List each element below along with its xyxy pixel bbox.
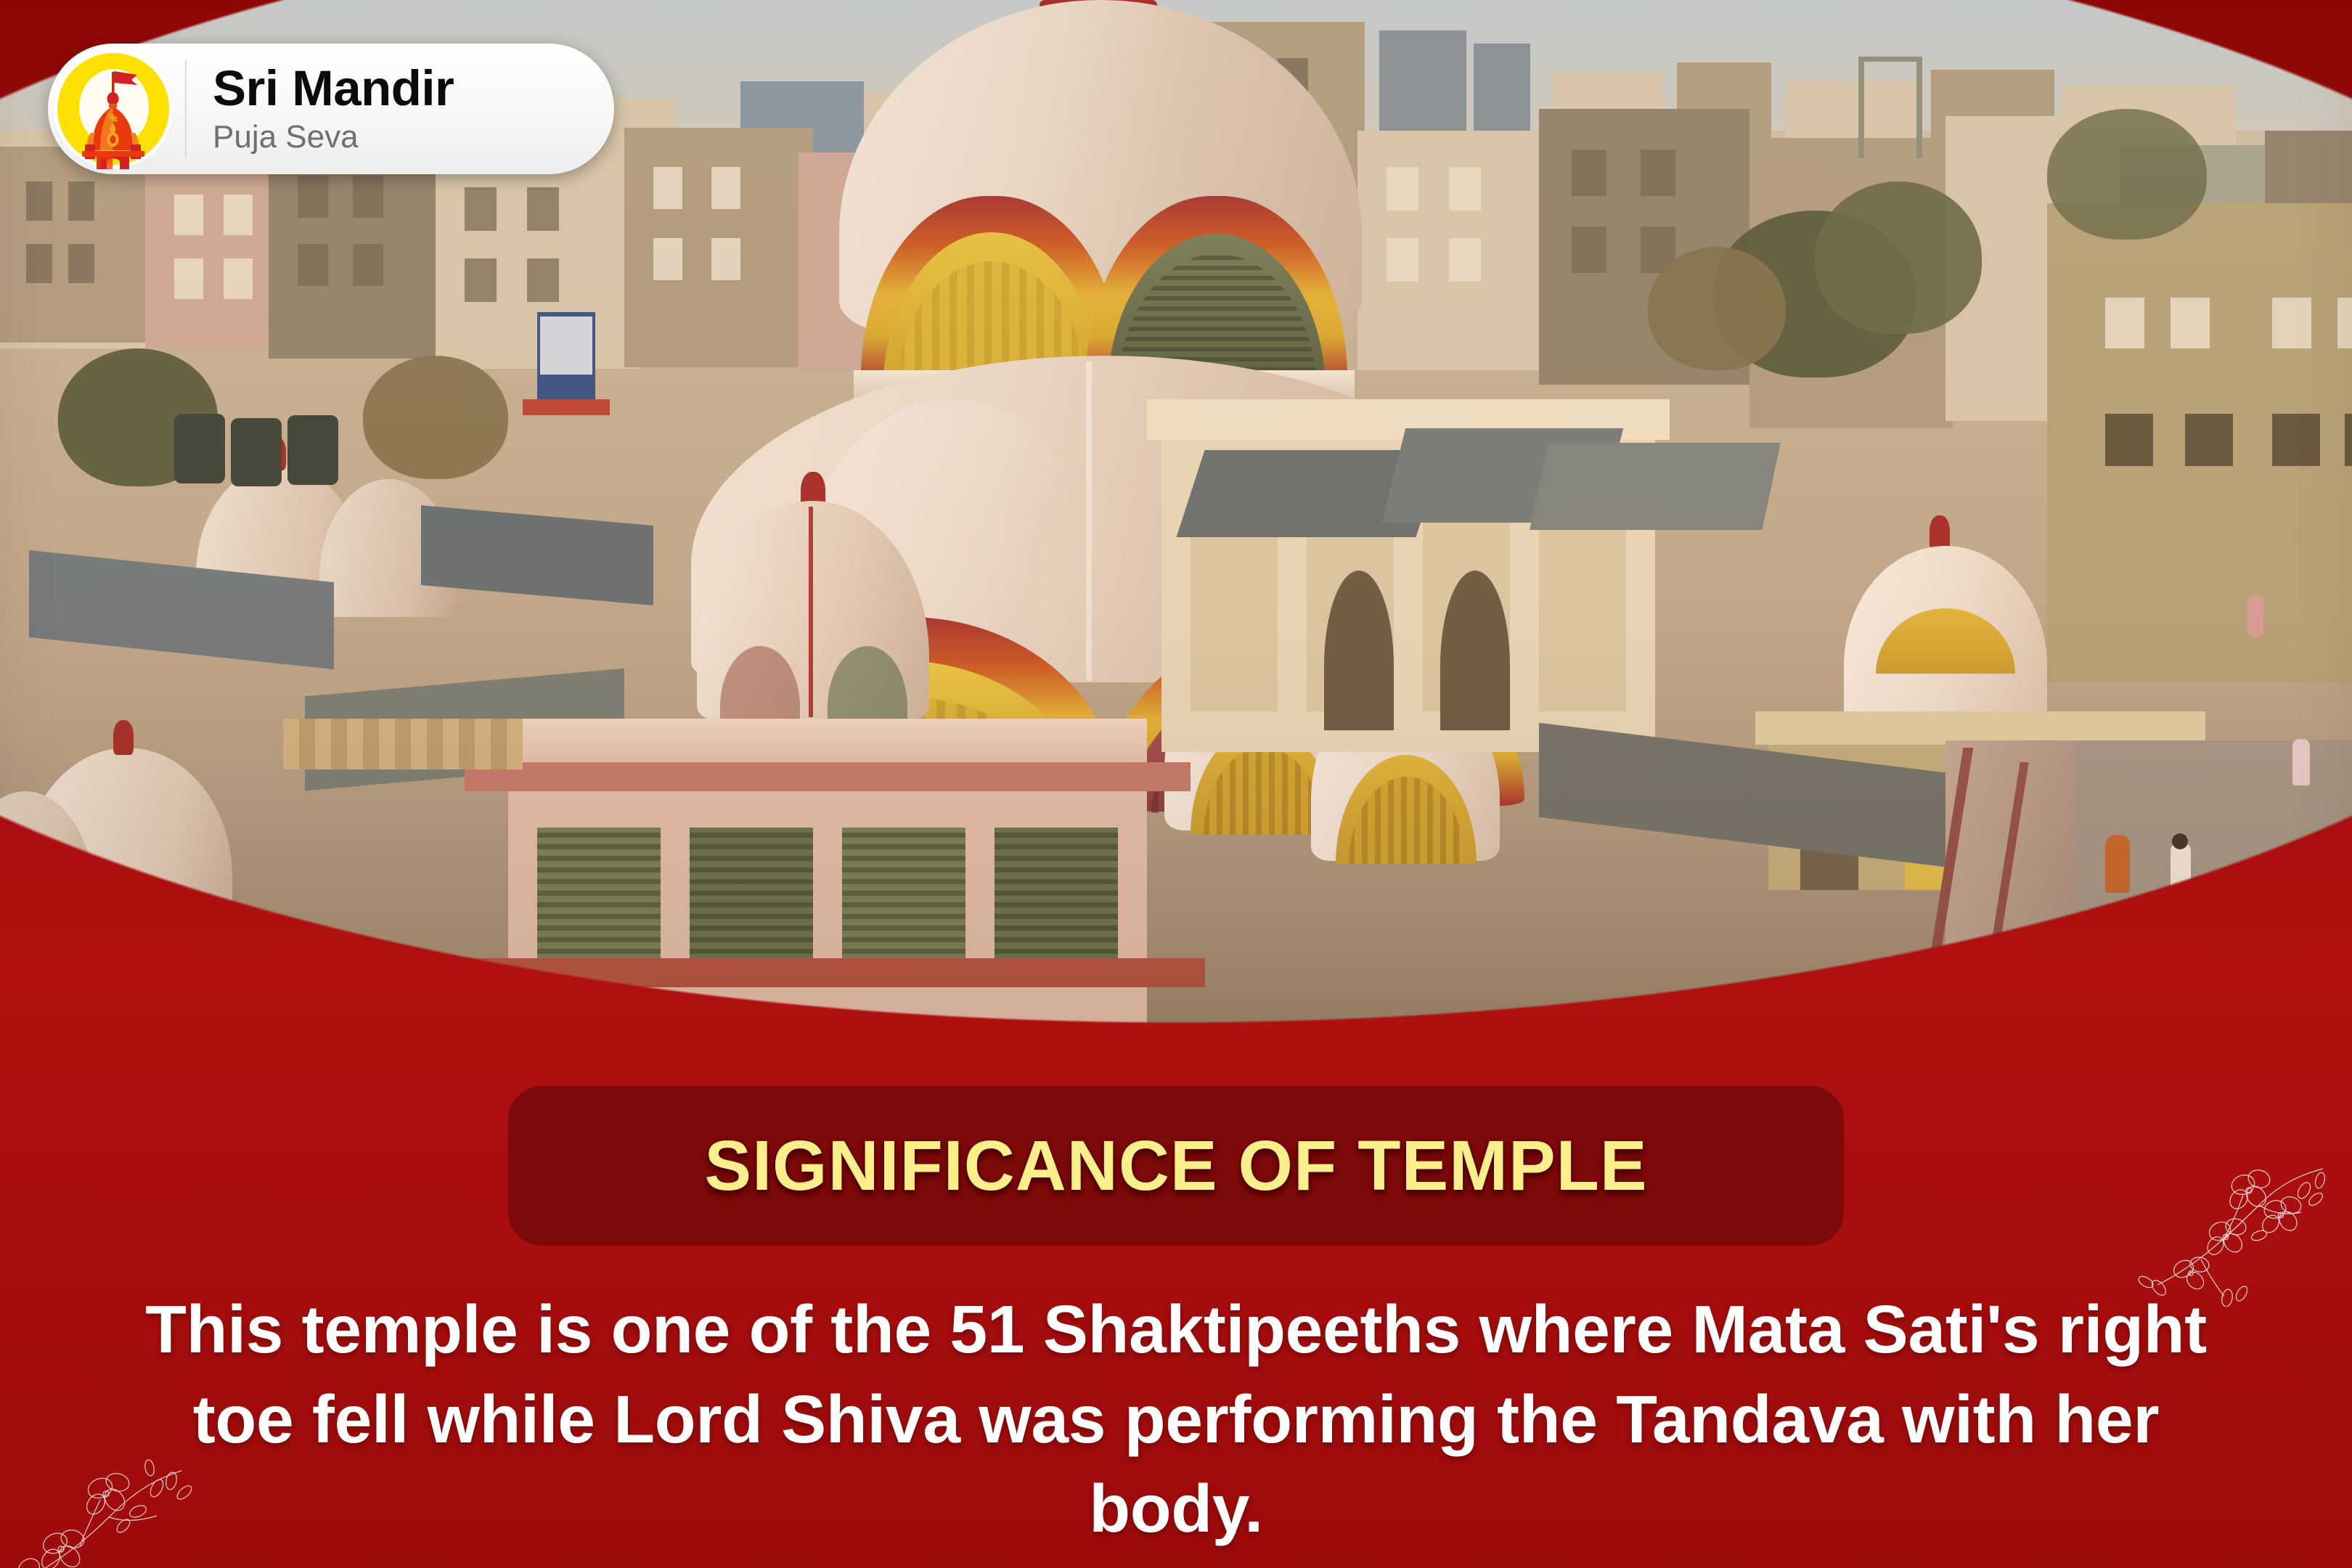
floral-branch-icon (2114, 1103, 2332, 1307)
brand-badge[interactable]: Sri Mandir Puja Seva (48, 44, 614, 174)
badge-divider (185, 60, 187, 158)
section-title-banner: SIGNIFICANCE OF TEMPLE (508, 1086, 1844, 1246)
brand-subtitle: Puja Seva (213, 121, 454, 154)
temple-logo-icon (52, 47, 175, 171)
significance-description: This temple is one of the 51 Shaktipeeth… (123, 1285, 2229, 1554)
brand-title: Sri Mandir (213, 63, 454, 113)
temple-photo (0, 0, 2352, 1169)
poster-canvas: Sri Mandir Puja Seva SIGNIFICANCE OF TEM… (0, 0, 2352, 1568)
section-title: SIGNIFICANCE OF TEMPLE (704, 1125, 1647, 1206)
